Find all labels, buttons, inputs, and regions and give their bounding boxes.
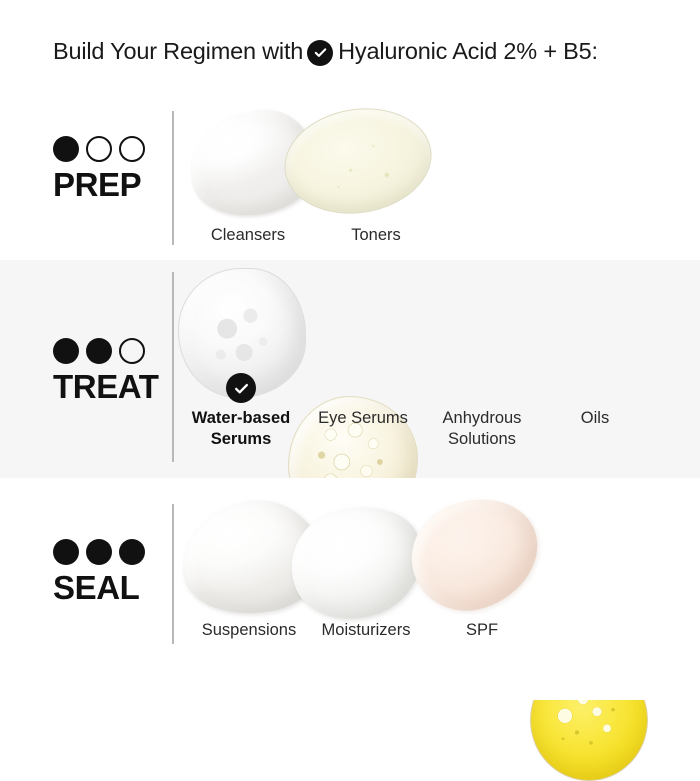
swatch-strip [176, 492, 700, 616]
check-circle-icon [226, 373, 256, 403]
progress-dot-filled [53, 136, 79, 162]
stage-label-seal: SEAL [53, 539, 165, 604]
product-group-treat: Water-based Serums Eye Serums Anhydrous … [176, 260, 700, 400]
regimen-step-prep: PREP Cleansers Toners [0, 103, 700, 260]
product-label-anhydrous-solutions[interactable]: Anhydrous Solutions [423, 408, 541, 450]
product-label-text: Water-based Serums [192, 409, 290, 448]
product-group-prep: Cleansers Toners [176, 103, 700, 221]
progress-dot-empty [119, 136, 145, 162]
stage-progress-dots-prep [53, 136, 165, 162]
product-label-water-based-serums[interactable]: Water-based Serums [185, 408, 297, 450]
stage-progress-dots-seal [53, 539, 165, 565]
product-label-eye-serums[interactable]: Eye Serums [303, 408, 423, 450]
swatch-toners[interactable] [277, 98, 439, 224]
stage-name: TREAT [53, 370, 165, 403]
check-circle-icon [307, 40, 333, 66]
divider [172, 504, 174, 644]
stage-label-treat: TREAT [53, 338, 165, 403]
product-label-moisturizers[interactable]: Moisturizers [308, 620, 424, 641]
product-group-seal: Suspensions Moisturizers SPF [176, 492, 700, 616]
progress-dot-filled [53, 338, 79, 364]
product-labels-treat: Water-based Serums Eye Serums Anhydrous … [176, 408, 645, 450]
page-title-prefix: Build Your Regimen with [53, 38, 303, 65]
swatch-strip [176, 103, 700, 221]
stage-label-prep: PREP [53, 136, 165, 201]
regimen-step-treat: TREAT Water-based Serums Eye Serums [0, 260, 700, 478]
product-label-oils[interactable]: Oils [545, 408, 645, 450]
page-title: Build Your Regimen with Hyaluronic Acid … [53, 38, 598, 65]
divider [172, 111, 174, 245]
stage-name: SEAL [53, 571, 165, 604]
product-label-cleansers[interactable]: Cleansers [189, 225, 307, 246]
stage-name: PREP [53, 168, 165, 201]
product-labels-prep: Cleansers Toners [176, 225, 435, 246]
progress-dot-filled [86, 338, 112, 364]
divider [172, 272, 174, 462]
stage-progress-dots-treat [53, 338, 165, 364]
progress-dot-filled [86, 539, 112, 565]
regimen-step-seal: SEAL Suspensions Moisturizers SPF [0, 478, 700, 700]
progress-dot-empty [119, 338, 145, 364]
swatch-spf[interactable] [397, 482, 553, 626]
progress-dot-empty [86, 136, 112, 162]
product-label-spf[interactable]: SPF [432, 620, 532, 641]
product-label-suspensions[interactable]: Suspensions [190, 620, 308, 641]
progress-dot-filled [53, 539, 79, 565]
product-labels-seal: Suspensions Moisturizers SPF [176, 620, 532, 641]
progress-dot-filled [119, 539, 145, 565]
product-label-toners[interactable]: Toners [317, 225, 435, 246]
page-header: Build Your Regimen with Hyaluronic Acid … [0, 0, 700, 103]
page-title-product: Hyaluronic Acid 2% + B5: [338, 38, 598, 65]
